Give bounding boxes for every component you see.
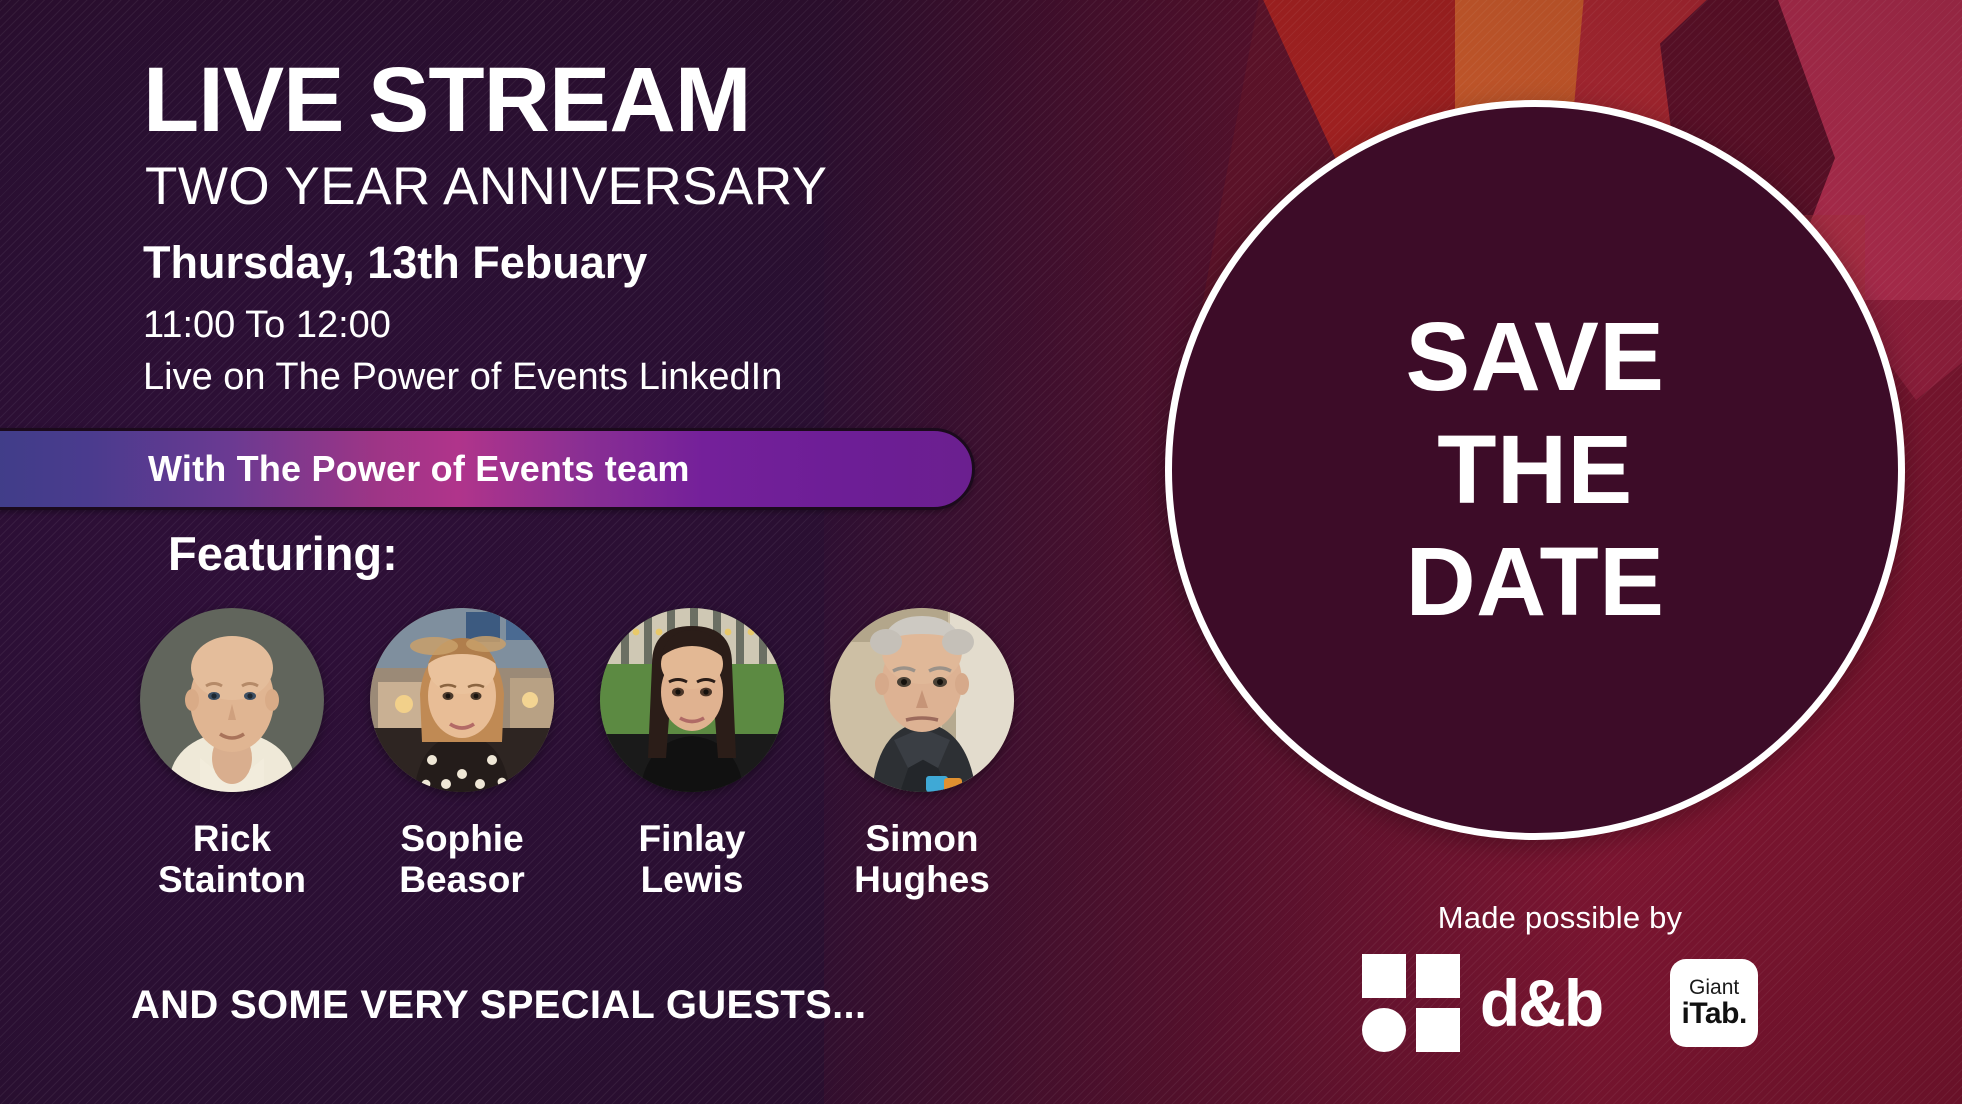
sponsor-section: Made possible by d&b Giant iTab.: [1350, 900, 1770, 1052]
avatar: [600, 608, 784, 792]
save-the-date-line-1: SAVE: [1406, 301, 1665, 414]
giant-itab-bottom-text: iTab.: [1682, 998, 1747, 1030]
speaker-list: Rick Stainton: [140, 608, 1014, 901]
speaker-first-name: Finlay: [639, 818, 746, 859]
special-guests-note: AND SOME VERY SPECIAL GUESTS...: [131, 983, 866, 1028]
list-item: Finlay Lewis: [600, 608, 784, 901]
db-square-bottom-right: [1416, 1008, 1460, 1052]
save-the-date-badge: SAVE THE DATE: [1165, 100, 1905, 840]
event-time: 11:00 To 12:00: [143, 306, 391, 344]
featuring-label: Featuring:: [168, 530, 398, 577]
speaker-first-name: Rick: [193, 818, 271, 859]
list-item: Rick Stainton: [140, 608, 324, 901]
page-subtitle: TWO YEAR ANNIVERSARY: [145, 160, 828, 213]
event-date: Thursday, 13th Febuary: [143, 240, 647, 285]
speaker-first-name: Sophie: [400, 818, 523, 859]
speaker-first-name: Simon: [865, 818, 978, 859]
db-square-top-right: [1416, 954, 1460, 998]
db-logo: d&b: [1362, 954, 1602, 1052]
avatar: [140, 608, 324, 792]
speaker-last-name: Beasor: [399, 859, 524, 900]
save-the-date-line-3: DATE: [1406, 526, 1665, 639]
sponsor-logo-row: d&b Giant iTab.: [1350, 954, 1770, 1052]
speaker-last-name: Lewis: [641, 859, 744, 900]
db-circle-bottom-left: [1362, 1008, 1406, 1052]
speaker-name: Rick Stainton: [140, 818, 324, 901]
speaker-name: Simon Hughes: [830, 818, 1014, 901]
host-banner: With The Power of Events team: [0, 428, 975, 510]
list-item: Simon Hughes: [830, 608, 1014, 901]
list-item: Sophie Beasor: [370, 608, 554, 901]
save-the-date-poster: LIVE STREAM TWO YEAR ANNIVERSARY Thursda…: [0, 0, 1962, 1104]
giant-itab-top-text: Giant: [1689, 977, 1739, 998]
host-banner-label: With The Power of Events team: [148, 448, 690, 490]
event-platform: Live on The Power of Events LinkedIn: [143, 358, 782, 396]
speaker-last-name: Hughes: [854, 859, 990, 900]
avatar: [370, 608, 554, 792]
speaker-name: Sophie Beasor: [370, 818, 554, 901]
left-content-panel: LIVE STREAM TWO YEAR ANNIVERSARY Thursda…: [0, 0, 1100, 1104]
avatar: [830, 608, 1014, 792]
made-possible-by-label: Made possible by: [1350, 900, 1770, 936]
giant-itab-logo: Giant iTab.: [1670, 959, 1758, 1047]
db-logo-wordmark: d&b: [1480, 970, 1602, 1036]
speaker-last-name: Stainton: [158, 859, 306, 900]
speaker-name: Finlay Lewis: [600, 818, 784, 901]
db-square-top-left: [1362, 954, 1406, 998]
save-the-date-line-2: THE: [1437, 414, 1633, 527]
page-title: LIVE STREAM: [143, 54, 750, 146]
db-logo-marks-icon: [1362, 954, 1460, 1052]
